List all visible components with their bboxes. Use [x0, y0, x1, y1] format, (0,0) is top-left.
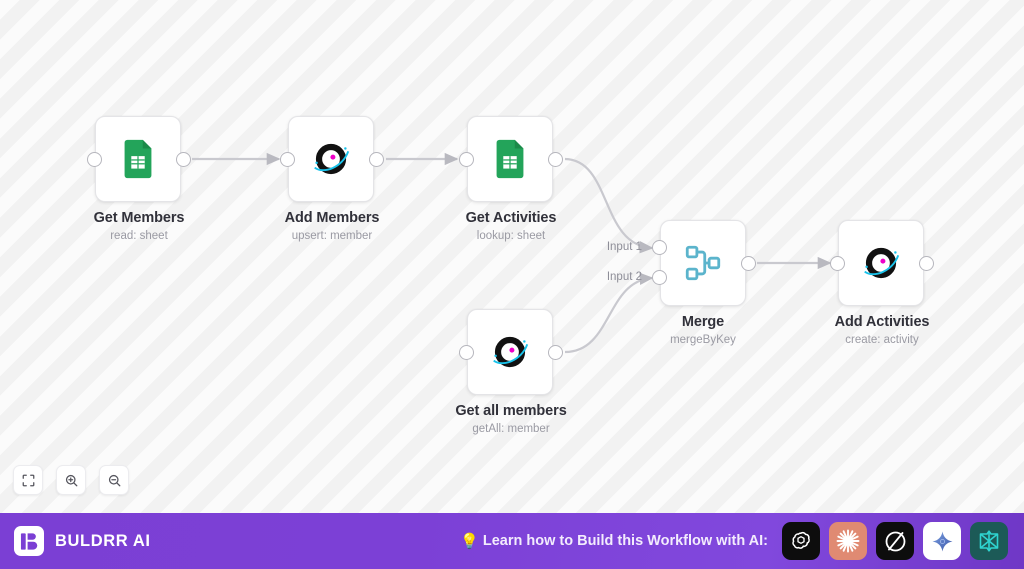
merge-icon — [682, 242, 724, 284]
caption-add-activities: Add Activities create: activity — [767, 314, 997, 346]
node-title: Get Activities — [396, 210, 626, 226]
openai-icon — [789, 529, 813, 553]
node-add-activities[interactable] — [838, 220, 924, 306]
port-merge-input-2[interactable] — [652, 270, 667, 285]
port-get-all-members-in[interactable] — [459, 345, 474, 360]
buldrr-b-logo-icon — [20, 532, 39, 551]
caption-get-activities: Get Activities lookup: sheet — [396, 210, 626, 242]
node-get-activities[interactable] — [467, 116, 553, 202]
caption-get-all-members: Get all members getAll: member — [396, 403, 626, 435]
port-get-members-in[interactable] — [87, 152, 102, 167]
node-subtitle: getAll: member — [396, 423, 626, 435]
brand[interactable]: BULDRR AI — [14, 526, 151, 556]
node-get-members[interactable] — [95, 116, 181, 202]
node-title: Add Members — [217, 210, 447, 226]
node-subtitle: upsert: member — [217, 230, 447, 242]
fit-screen-icon — [21, 473, 36, 488]
perplexity-button[interactable] — [970, 522, 1008, 560]
brand-name: BULDRR AI — [55, 532, 151, 551]
grok-button[interactable] — [876, 522, 914, 560]
node-merge[interactable] — [660, 220, 746, 306]
port-get-activities-in[interactable] — [459, 152, 474, 167]
claude-button[interactable] — [829, 522, 867, 560]
label-input-1: Input 1 — [560, 241, 642, 253]
claude-icon — [835, 528, 861, 554]
gemini-button[interactable] — [923, 522, 961, 560]
port-add-activities-in[interactable] — [830, 256, 845, 271]
port-add-members-in[interactable] — [280, 152, 295, 167]
perplexity-icon — [976, 528, 1002, 554]
node-get-all-members[interactable] — [467, 309, 553, 395]
node-title: Get all members — [396, 403, 626, 419]
highlevel-icon — [487, 329, 533, 375]
node-title: Get Members — [24, 210, 254, 226]
lightbulb-icon: 💡 — [460, 532, 479, 550]
port-get-members-out[interactable] — [176, 152, 191, 167]
zoom-out-button[interactable] — [99, 465, 129, 495]
port-add-members-out[interactable] — [369, 152, 384, 167]
learn-prompt: 💡 Learn how to Build this Workflow with … — [460, 532, 768, 550]
grok-icon — [883, 529, 908, 554]
learn-text: Learn how to Build this Workflow with AI… — [483, 533, 768, 549]
caption-add-members: Add Members upsert: member — [217, 210, 447, 242]
ai-icon-list — [782, 522, 1008, 560]
canvas-controls — [13, 465, 129, 495]
node-subtitle: mergeByKey — [588, 334, 818, 346]
brand-logo — [14, 526, 44, 556]
node-title: Merge — [588, 314, 818, 330]
highlevel-icon — [858, 240, 904, 286]
port-merge-out[interactable] — [741, 256, 756, 271]
workflow-canvas[interactable]: Get Members read: sheet Add Members upse… — [0, 0, 1024, 513]
port-get-all-members-out[interactable] — [548, 345, 563, 360]
zoom-in-button[interactable] — [56, 465, 86, 495]
label-input-2: Input 2 — [560, 271, 642, 283]
node-add-members[interactable] — [288, 116, 374, 202]
gemini-icon — [930, 529, 955, 554]
footer-cta: 💡 Learn how to Build this Workflow with … — [151, 522, 1010, 560]
port-merge-input-1[interactable] — [652, 240, 667, 255]
openai-button[interactable] — [782, 522, 820, 560]
node-subtitle: create: activity — [767, 334, 997, 346]
workflow-editor: Get Members read: sheet Add Members upse… — [0, 0, 1024, 569]
port-get-activities-out[interactable] — [548, 152, 563, 167]
caption-merge: Merge mergeByKey — [588, 314, 818, 346]
highlevel-icon — [308, 136, 354, 182]
node-subtitle: read: sheet — [24, 230, 254, 242]
zoom-in-icon — [64, 473, 79, 488]
node-title: Add Activities — [767, 314, 997, 330]
port-add-activities-out[interactable] — [919, 256, 934, 271]
google-sheets-icon — [487, 136, 533, 182]
fit-view-button[interactable] — [13, 465, 43, 495]
caption-get-members: Get Members read: sheet — [24, 210, 254, 242]
footer-bar: BULDRR AI 💡 Learn how to Build this Work… — [0, 513, 1024, 569]
google-sheets-icon — [115, 136, 161, 182]
zoom-out-icon — [107, 473, 122, 488]
